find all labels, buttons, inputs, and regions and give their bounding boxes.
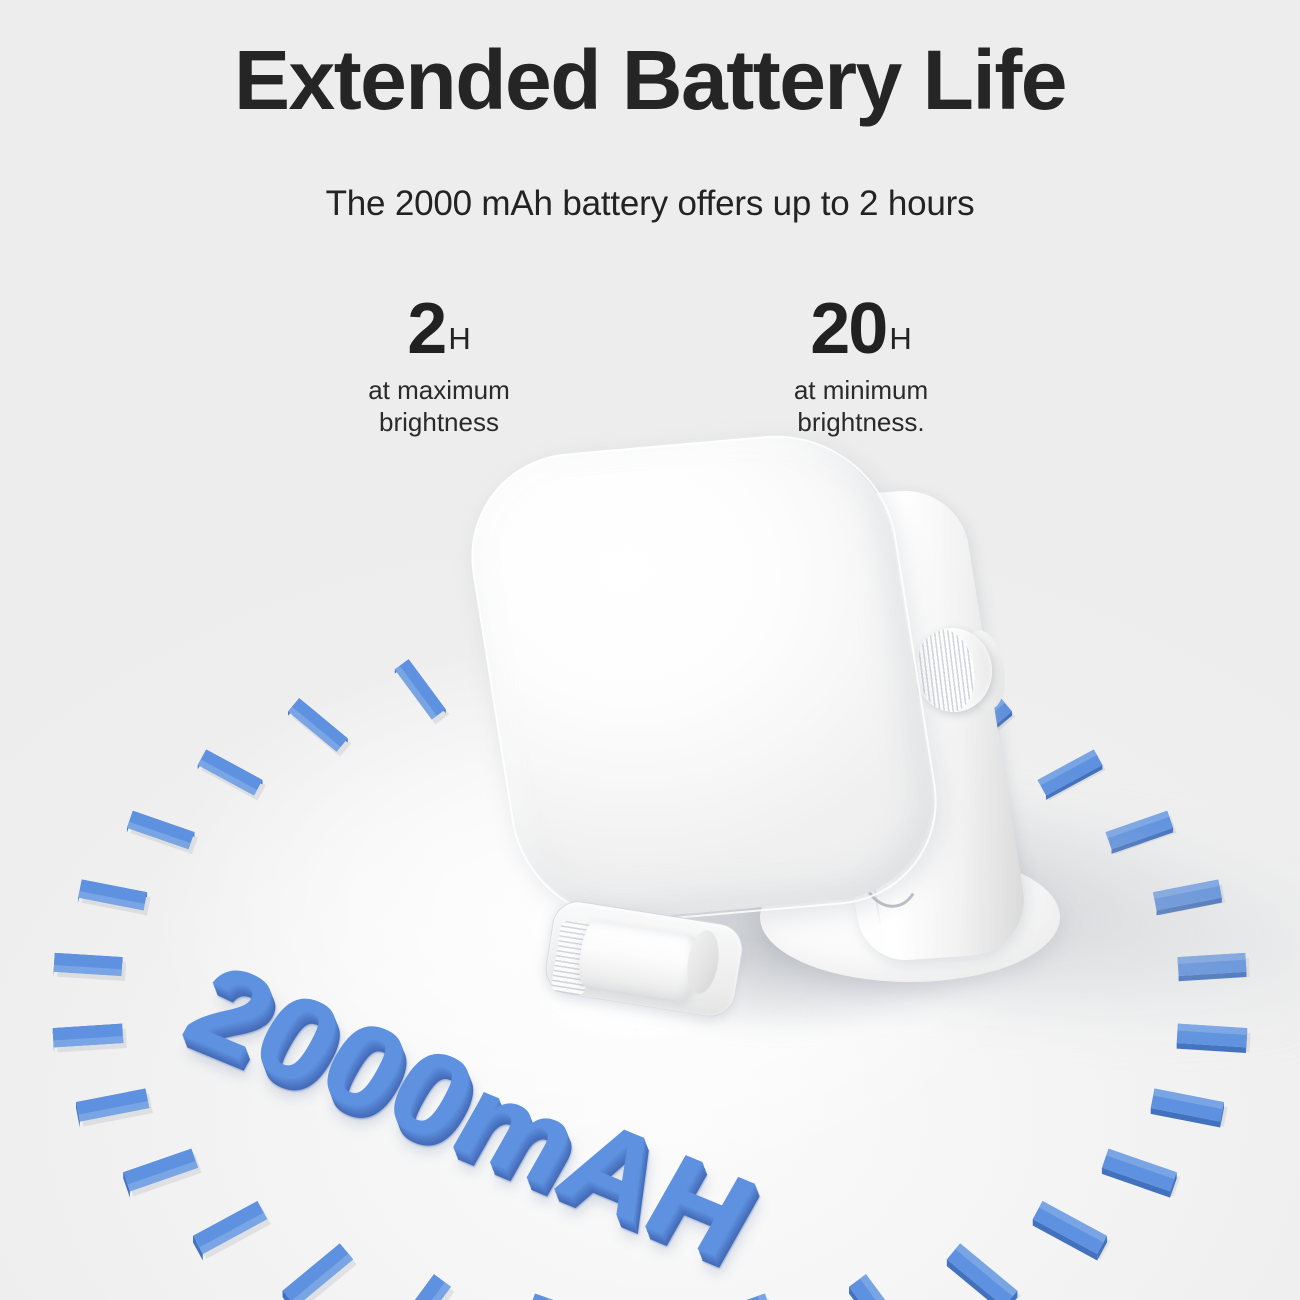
stat-value-row: 20 H [746,288,976,362]
dial-tick [193,1201,271,1260]
dial-tick [54,953,126,981]
device-display-bezel [455,426,953,931]
stat-unit: H [889,323,911,354]
dial-tick [53,1024,127,1053]
dial-tick [849,1274,914,1300]
stat-value-row: 2 H [324,288,554,362]
dial-tick [127,811,198,854]
dial-tick [1102,1149,1180,1198]
smart-watch-device [430,400,1070,1040]
dial-tick [1033,1201,1111,1260]
dial-tick [198,749,266,800]
stat-value: 2 [407,296,445,362]
dial-tick [1151,1089,1228,1128]
page-subtitle: The 2000 mAh battery offers up to 2 hour… [0,184,1300,224]
dial-tick [288,698,351,757]
dial-tick [947,1243,1021,1300]
dial-tick [283,1243,357,1300]
dial-tick [745,1293,794,1300]
dial-tick [76,1089,153,1128]
dial-tick [123,1149,201,1198]
stat-value: 20 [810,296,886,362]
dial-tick [78,879,150,915]
stat-unit: H [448,323,470,354]
dial-tick [510,1293,559,1300]
page-title: Extended Battery Life [0,38,1300,122]
product-feature-banner: Extended Battery Life The 2000 mAh batte… [0,0,1300,1300]
dial-tick [389,1274,454,1300]
